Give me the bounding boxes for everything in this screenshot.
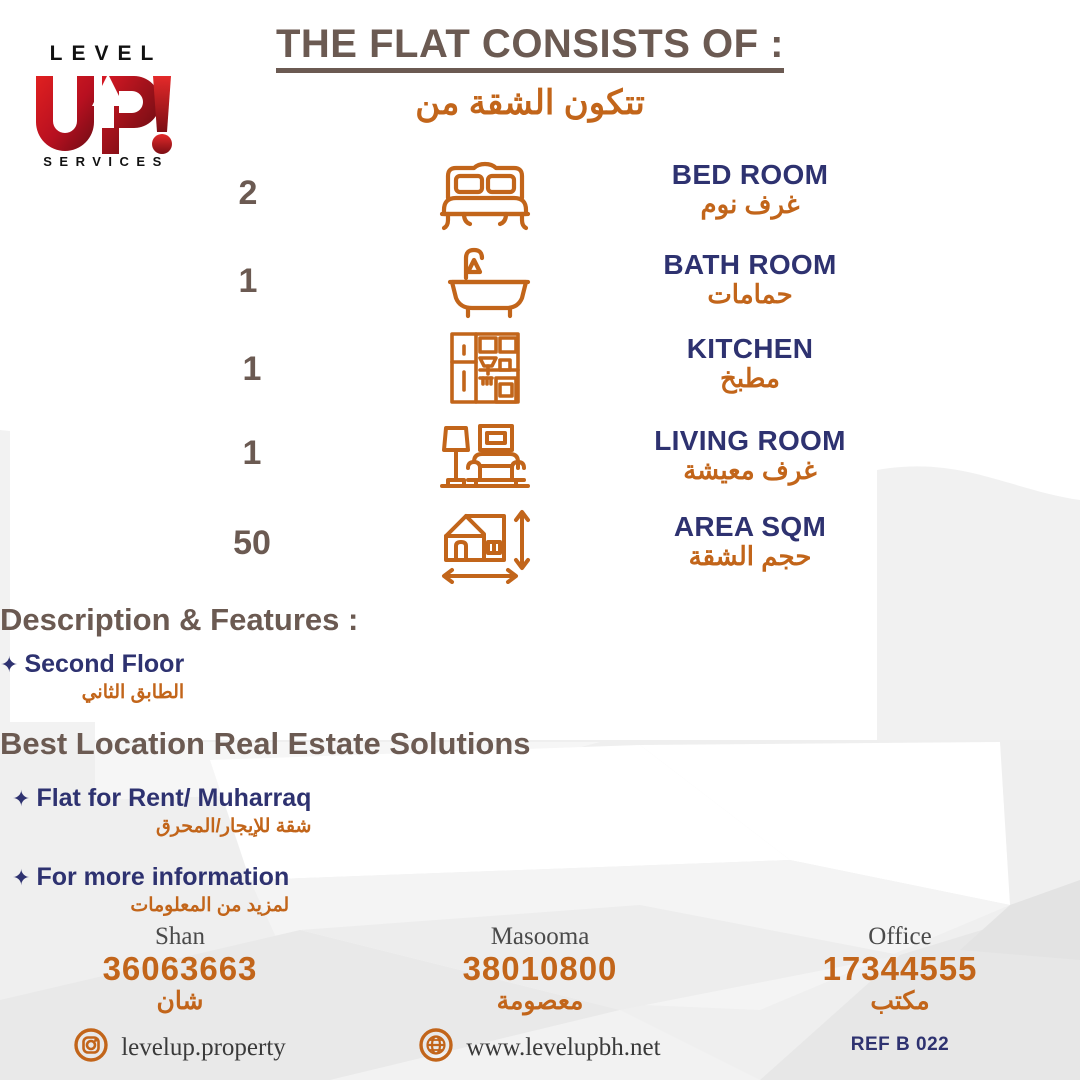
feature-label-ar: مطبخ [570, 364, 930, 394]
page-title-en: THE FLAT CONSISTS OF : [276, 22, 784, 73]
feature-label-ar: غرف نوم [570, 190, 930, 220]
star-bullet-icon: ✦ [0, 654, 18, 676]
contact-name-ar: مكتب [720, 988, 1080, 1014]
feature-item-en: Second Floor [24, 650, 184, 679]
contact-shan[interactable]: Shan 36063663 شان [0, 924, 360, 1014]
feature-row-bath-room: 1 BATH ROOM حمامات [10, 240, 890, 328]
feature-item-flat-for-rent: ✦ Flat for Rent/ Muharraq شقة للإيجار/ال… [12, 784, 311, 838]
feature-label-en: LIVING ROOM [570, 426, 930, 456]
header-block: THE FLAT CONSISTS OF : تتكون الشقة من [200, 22, 860, 124]
feature-count: 1 [188, 262, 308, 301]
instagram-handle-text[interactable]: levelup.property [121, 1034, 286, 1062]
feature-count: 50 [192, 524, 312, 563]
contact-name-ar: شان [0, 988, 360, 1014]
feature-item-en: For more information [36, 863, 289, 892]
feature-count: 1 [192, 350, 312, 389]
contact-number[interactable]: 38010800 [360, 950, 720, 988]
feature-row-bed-room: 2 BED ROOM غرف نوم [10, 152, 890, 240]
contact-masooma[interactable]: Masooma 38010800 معصومة [360, 924, 720, 1014]
level-up-logo: LEVEL SERVICES [22, 32, 190, 170]
feature-item-more-information: ✦ For more information لمزيد من المعلوما… [12, 863, 289, 917]
feature-label-ar: غرف معيشة [570, 456, 930, 486]
feature-row-living-room: 1 LIVING ROOM غرف معيشة [10, 416, 890, 504]
feature-labels: BED ROOM غرف نوم [570, 160, 930, 220]
feature-item-en: Flat for Rent/ Muharraq [36, 784, 311, 813]
bed-icon [430, 154, 540, 234]
star-bullet-icon: ✦ [12, 788, 30, 810]
feature-label-en: KITCHEN [570, 334, 930, 364]
website-handle-text[interactable]: www.levelupbh.net [466, 1034, 660, 1062]
feature-label-ar: حمامات [570, 280, 930, 310]
contact-office[interactable]: Office 17344555 مكتب [720, 924, 1080, 1014]
contact-list: Shan 36063663 شان Masooma 38010800 معصوم… [0, 924, 1080, 1014]
tagline: Best Location Real Estate Solutions [0, 726, 531, 762]
feature-item-ar: شقة للإيجار/المحرق [12, 815, 311, 838]
feature-row-area: 50 AREA SQM حجم الشقة [10, 504, 890, 592]
kitchen-icon [430, 328, 540, 408]
contact-name-ar: معصومة [360, 988, 720, 1014]
contact-name: Shan [0, 924, 360, 950]
svg-text:LEVEL: LEVEL [50, 42, 163, 65]
bathtub-icon [430, 242, 540, 322]
instagram-icon [74, 1028, 108, 1067]
feature-item-ar: الطابق الثاني [0, 681, 184, 704]
feature-labels: KITCHEN مطبخ [570, 334, 930, 394]
star-bullet-icon: ✦ [12, 867, 30, 889]
living-room-icon [430, 418, 540, 498]
contact-number[interactable]: 36063663 [0, 950, 360, 988]
feature-list: 2 BED ROOM غرف نوم 1 [10, 152, 890, 592]
instagram-handle[interactable]: levelup.property [0, 1028, 360, 1067]
feature-row-kitchen: 1 KITCHEN [10, 328, 890, 416]
contact-name: Office [720, 924, 1080, 950]
feature-label-en: BED ROOM [570, 160, 930, 190]
feature-count: 2 [188, 174, 308, 213]
globe-icon [419, 1028, 453, 1067]
feature-label-en: AREA SQM [570, 512, 930, 542]
feature-labels: BATH ROOM حمامات [570, 250, 930, 310]
feature-labels: LIVING ROOM غرف معيشة [570, 426, 930, 486]
feature-label-en: BATH ROOM [570, 250, 930, 280]
reference-code: REF B 022 [720, 1028, 1080, 1067]
feature-count: 1 [192, 434, 312, 473]
area-house-icon [430, 504, 540, 584]
page-title-ar: تتكون الشقة من [200, 83, 860, 124]
feature-label-ar: حجم الشقة [570, 542, 930, 572]
contact-number[interactable]: 17344555 [720, 950, 1080, 988]
feature-labels: AREA SQM حجم الشقة [570, 512, 930, 572]
description-heading: Description & Features : [0, 602, 358, 638]
contact-name: Masooma [360, 924, 720, 950]
feature-item-ar: لمزيد من المعلومات [12, 894, 289, 917]
feature-item-second-floor: ✦ Second Floor الطابق الثاني [0, 650, 184, 704]
website-handle[interactable]: www.levelupbh.net [360, 1028, 720, 1067]
social-handles: levelup.property www.levelupbh.net REF B… [0, 1028, 1080, 1067]
